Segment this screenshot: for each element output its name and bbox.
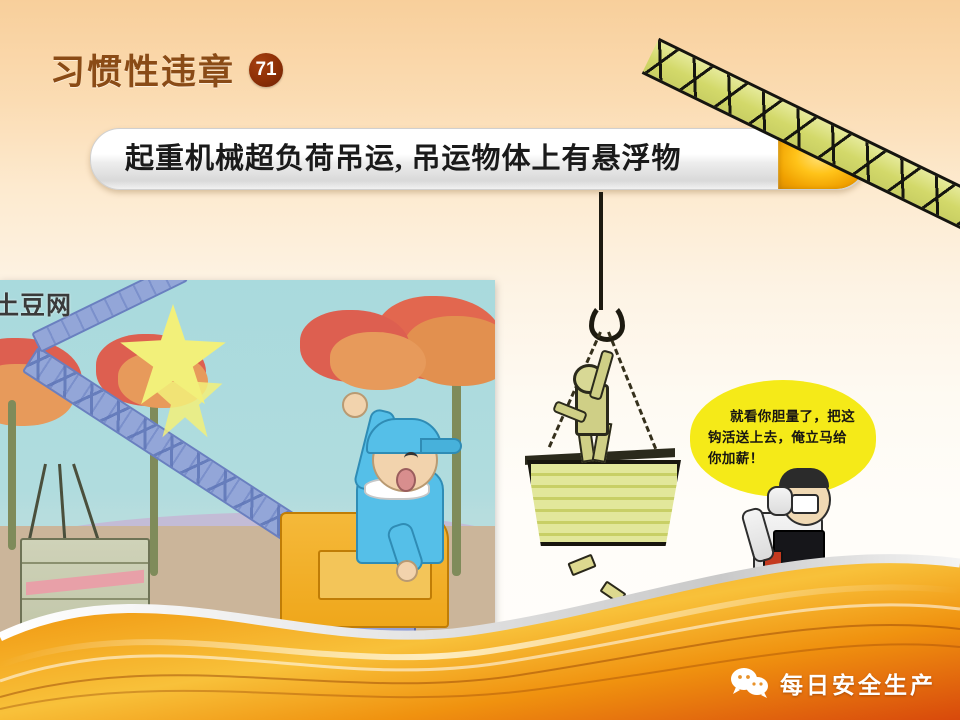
- operator-raised-hand: [342, 392, 368, 418]
- title-number-badge: 71: [249, 53, 283, 87]
- tree-foliage-right-d: [330, 332, 426, 390]
- operator-cap-brim: [420, 438, 462, 454]
- crane-hook: [589, 302, 625, 342]
- footer-brand: 每日安全生产: [730, 666, 936, 700]
- operator-eye: [404, 452, 418, 465]
- brand-name-text: 每日安全生产: [780, 666, 936, 700]
- slide-canvas: 习惯性违章 71 起重机械超负荷吊运, 吊运物体上有悬浮物: [0, 0, 960, 720]
- page-title: 习惯性违章: [50, 44, 235, 95]
- headline-banner-text: 起重机械超负荷吊运, 吊运物体上有悬浮物: [91, 145, 778, 174]
- basket-chain-right: [607, 331, 657, 449]
- boss-hair: [779, 468, 829, 488]
- headline-banner: 起重机械超负荷吊运, 吊运物体上有悬浮物: [90, 128, 867, 190]
- operator-mouth: [396, 468, 416, 492]
- speech-bubble-text: 就看你胆量了，把这钩活送上去，俺立马给你加薪！: [708, 407, 858, 470]
- wechat-icon: [730, 667, 770, 699]
- slide-title-row: 习惯性违章 71: [50, 44, 283, 95]
- hoist-rope: [599, 192, 603, 310]
- tudou-watermark: 土豆网: [0, 286, 72, 322]
